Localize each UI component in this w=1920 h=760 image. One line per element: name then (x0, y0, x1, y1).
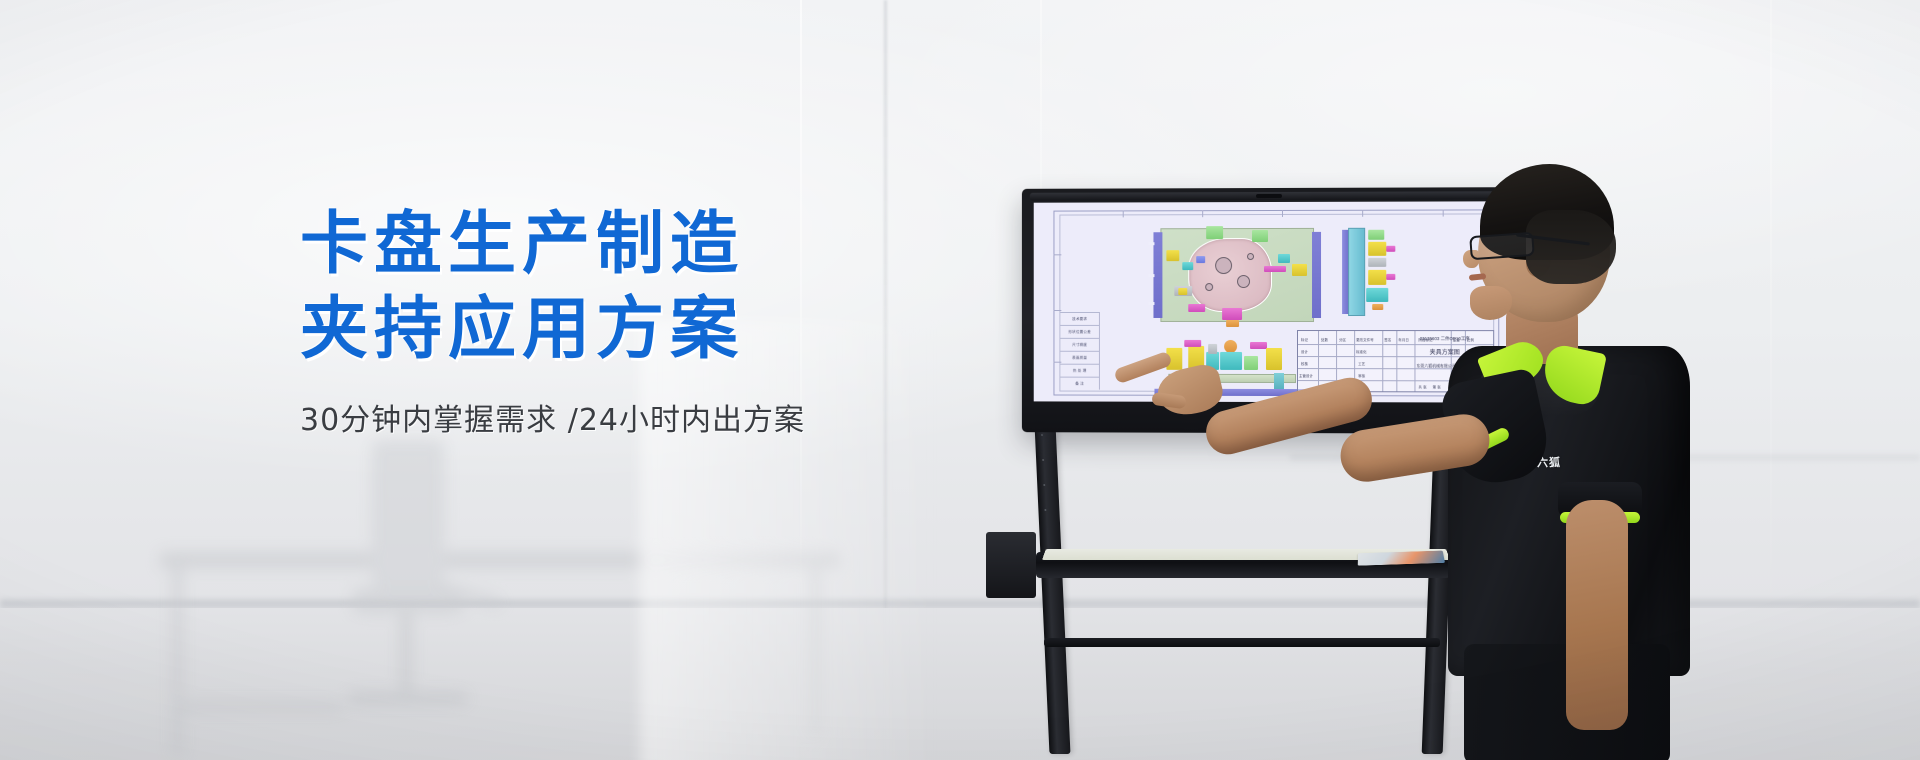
drawing-left-notes: 技术要求 形状位置公差 尺寸精度 表面质量 热 处 理 备 注 (1060, 312, 1100, 390)
note-row: 形状位置公差 (1060, 325, 1100, 338)
th-mark: 标记 (1301, 337, 1308, 342)
camera-icon (1256, 194, 1282, 198)
desk-rail (172, 702, 342, 712)
hero-banner: 卡盘生产制造 夹持应用方案 30分钟内掌握需求 /24小时内出方案 (0, 0, 1920, 760)
vesa-mount-bracket (986, 532, 1036, 598)
presenter-person: 六狐 (1330, 170, 1750, 760)
stand-height-holes (1041, 434, 1049, 534)
page-title: 卡盘生产制造 夹持应用方案 (300, 205, 940, 371)
note-row: 尺寸精度 (1060, 338, 1100, 351)
hero-copy: 卡盘生产制造 夹持应用方案 30分钟内掌握需求 /24小时内出方案 (300, 205, 940, 439)
row-lead: 主管设计 (1299, 373, 1313, 378)
stand-leg-left (1035, 424, 1071, 754)
note-row: 表面质量 (1060, 351, 1100, 364)
right-arm (1566, 500, 1628, 730)
office-chair-back (372, 440, 444, 588)
plate-rail-right (1312, 232, 1321, 318)
th-count: 处数 (1321, 337, 1328, 342)
office-chair-base (348, 692, 468, 705)
office-chair-post (400, 612, 412, 698)
headline-line-2: 夹持应用方案 (300, 290, 940, 371)
hair-side (1526, 210, 1616, 284)
note-row: 技术要求 (1060, 312, 1100, 325)
desk-leg (172, 566, 183, 756)
row-check: 校核 (1301, 361, 1308, 366)
row-design: 设计 (1301, 349, 1308, 354)
hero-subtitle: 30分钟内掌握需求 /24小时内出方案 (300, 395, 940, 439)
headline-line-1: 卡盘生产制造 (300, 205, 940, 286)
background-furniture (120, 440, 860, 760)
cad-view-top (1160, 228, 1314, 322)
plate-rail-left (1153, 232, 1162, 318)
note-row: 热 处 理 (1060, 364, 1100, 377)
workpiece-casting (1188, 238, 1272, 312)
note-row: 备 注 (1060, 377, 1100, 390)
